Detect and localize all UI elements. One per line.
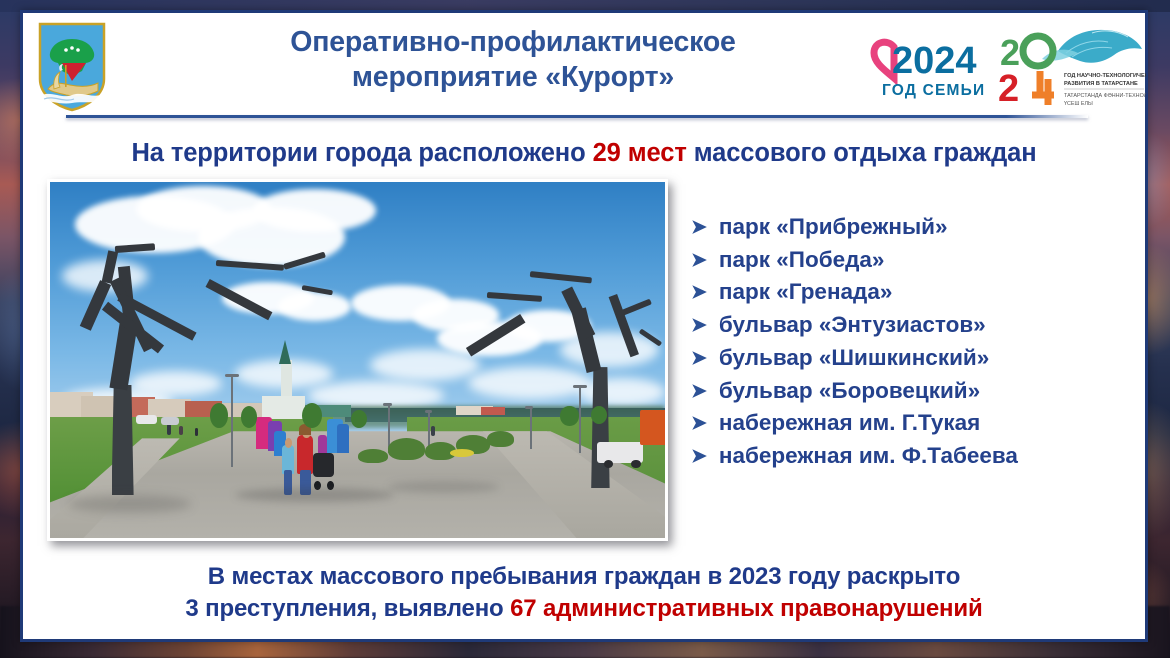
- coat-of-arms-icon: [36, 21, 108, 113]
- arrow-bullet-icon: ➤: [691, 414, 707, 433]
- logo-year-subtitle: ГОД СЕМЬИ: [882, 82, 985, 99]
- footer-line-2-before: 3 преступления, выявлено: [185, 595, 510, 622]
- logo-sci-text-tt-1: ТАТАРСТАНДА ФӘННИ-ТЕХНОЛОГИК: [1064, 93, 1146, 99]
- headline-before: На территории города расположено: [131, 139, 592, 167]
- list-item[interactable]: ➤ парк «Гренада»: [691, 276, 1161, 309]
- logo-sci-text-tt-2: ҮСЕШ ЕЛЫ: [1064, 101, 1093, 107]
- list-item-label: бульвар «Шишкинский»: [719, 342, 989, 375]
- list-item[interactable]: ➤ парк «Победа»: [691, 244, 1161, 277]
- list-item[interactable]: ➤ бульвар «Шишкинский»: [691, 342, 1161, 375]
- header-divider: [66, 115, 1088, 118]
- list-item-label: парк «Гренада»: [719, 276, 892, 309]
- presentation-slide: Оперативно-профилактическое мероприятие …: [0, 0, 1170, 658]
- content-panel: Оперативно-профилактическое мероприятие …: [20, 10, 1148, 642]
- list-item-label: парк «Победа»: [719, 244, 885, 277]
- arrow-bullet-icon: ➤: [691, 447, 707, 466]
- logo-year-text: 2024: [892, 40, 977, 82]
- photo-metal-tree-left: [112, 385, 134, 495]
- footer-line-1: В местах массового пребывания граждан в …: [23, 561, 1145, 593]
- photo-stroller: [313, 453, 334, 478]
- headline-after: массового отдыха граждан: [687, 139, 1037, 167]
- list-item-label: бульвар «Боровецкий»: [719, 375, 980, 408]
- list-item[interactable]: ➤ набережная им. Г.Тукая: [691, 407, 1161, 440]
- footer-line-2: 3 преступления, выявлено 67 администрати…: [23, 593, 1145, 625]
- list-item-label: парк «Прибрежный»: [719, 211, 948, 244]
- logo-sci-text-ru-1: ГОД НАУЧНО-ТЕХНОЛОГИЧЕСКОГО: [1064, 73, 1146, 79]
- footer-statistics: В местах массового пребывания граждан в …: [23, 561, 1145, 625]
- arrow-bullet-icon: ➤: [691, 349, 707, 368]
- list-item[interactable]: ➤ бульвар «Энтузиастов»: [691, 309, 1161, 342]
- year-logos: 2024 ГОД СЕМЬИ 2: [868, 21, 1143, 117]
- list-item-label: набережная им. Ф.Табеева: [719, 440, 1018, 473]
- photo-metal-tree-right: [591, 367, 609, 488]
- photo-lamp-post: [231, 374, 233, 467]
- headline: На территории города расположено 29 мест…: [23, 139, 1145, 168]
- logo-sci-digits-bottom: 2: [998, 68, 1019, 110]
- photo-person-adult: [297, 435, 313, 474]
- year-of-science-logo: 2 2 ГОД НАУЧНО-ТЕХНОЛОГИЧЕСКОГО РАЗВИТИЯ…: [996, 25, 1146, 120]
- logo-sci-text-ru-2: РАЗВИТИЯ В ТАТАРСТАНЕ: [1064, 81, 1138, 87]
- photo-truck-orange: [640, 410, 665, 446]
- list-item-label: бульвар «Энтузиастов»: [719, 309, 986, 342]
- slide-header: Оперативно-профилактическое мероприятие …: [23, 13, 1145, 121]
- list-item[interactable]: ➤ бульвар «Боровецкий»: [691, 375, 1161, 408]
- logo-sci-digits-top: 2: [1000, 32, 1020, 73]
- arrow-bullet-icon: ➤: [691, 283, 707, 302]
- year-of-family-logo: 2024 ГОД СЕМЬИ: [868, 31, 988, 108]
- park-photo-image: [50, 182, 665, 538]
- photo-car-distant: [136, 415, 157, 424]
- arrow-bullet-icon: ➤: [691, 251, 707, 270]
- title-line-2: мероприятие «Курорт»: [163, 60, 863, 95]
- locations-list: ➤ парк «Прибрежный» ➤ парк «Победа» ➤ па…: [691, 211, 1161, 473]
- list-item[interactable]: ➤ парк «Прибрежный»: [691, 211, 1161, 244]
- title-line-1: Оперативно-профилактическое: [163, 25, 863, 60]
- list-item[interactable]: ➤ набережная им. Ф.Табеева: [691, 440, 1161, 473]
- footer-violations-count: 67 административных правонарушений: [510, 595, 982, 622]
- arrow-bullet-icon: ➤: [691, 218, 707, 237]
- list-item-label: набережная им. Г.Тукая: [719, 407, 980, 440]
- arrow-bullet-icon: ➤: [691, 382, 707, 401]
- arrow-bullet-icon: ➤: [691, 316, 707, 335]
- park-photo: [47, 179, 668, 541]
- headline-count: 29 мест: [593, 139, 687, 167]
- slide-title: Оперативно-профилактическое мероприятие …: [163, 25, 863, 95]
